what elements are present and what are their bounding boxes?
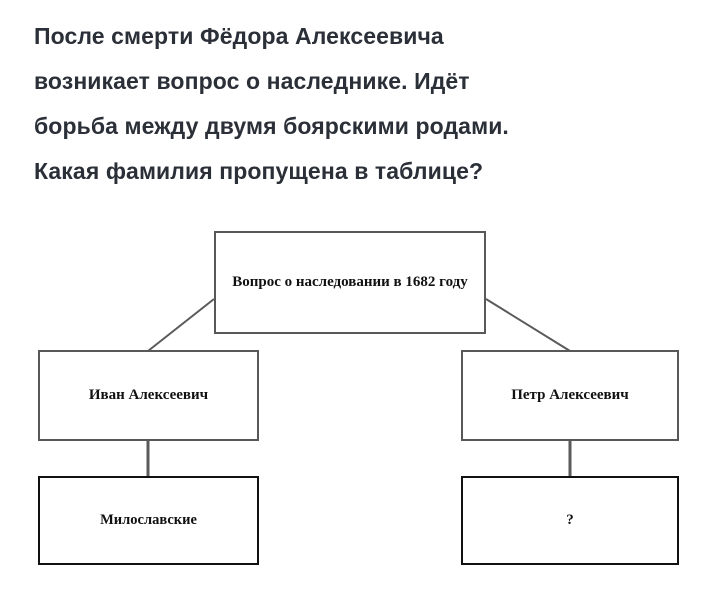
node-inheritance-question[interactable]: Вопрос о наследовании в 1682 году (214, 231, 486, 334)
node-missing-surname[interactable]: ? (461, 476, 679, 565)
node-petr-alekseevich[interactable]: Петр Алексеевич (461, 350, 679, 441)
node-miloslavskie[interactable]: Милославские (38, 476, 259, 565)
node-miloslavskie-label: Милославские (90, 511, 207, 529)
inheritance-tree-diagram: Вопрос о наследовании в 1682 году Иван А… (0, 0, 720, 616)
node-ivan-label: Иван Алексеевич (79, 386, 218, 405)
edge-root-to-ivan (148, 299, 214, 351)
edge-root-to-petr (486, 299, 570, 351)
node-petr-label: Петр Алексеевич (501, 386, 639, 405)
node-root-label: Вопрос о наследовании в 1682 году (222, 273, 478, 292)
node-unknown-label: ? (556, 511, 584, 530)
node-ivan-alekseevich[interactable]: Иван Алексеевич (38, 350, 259, 441)
